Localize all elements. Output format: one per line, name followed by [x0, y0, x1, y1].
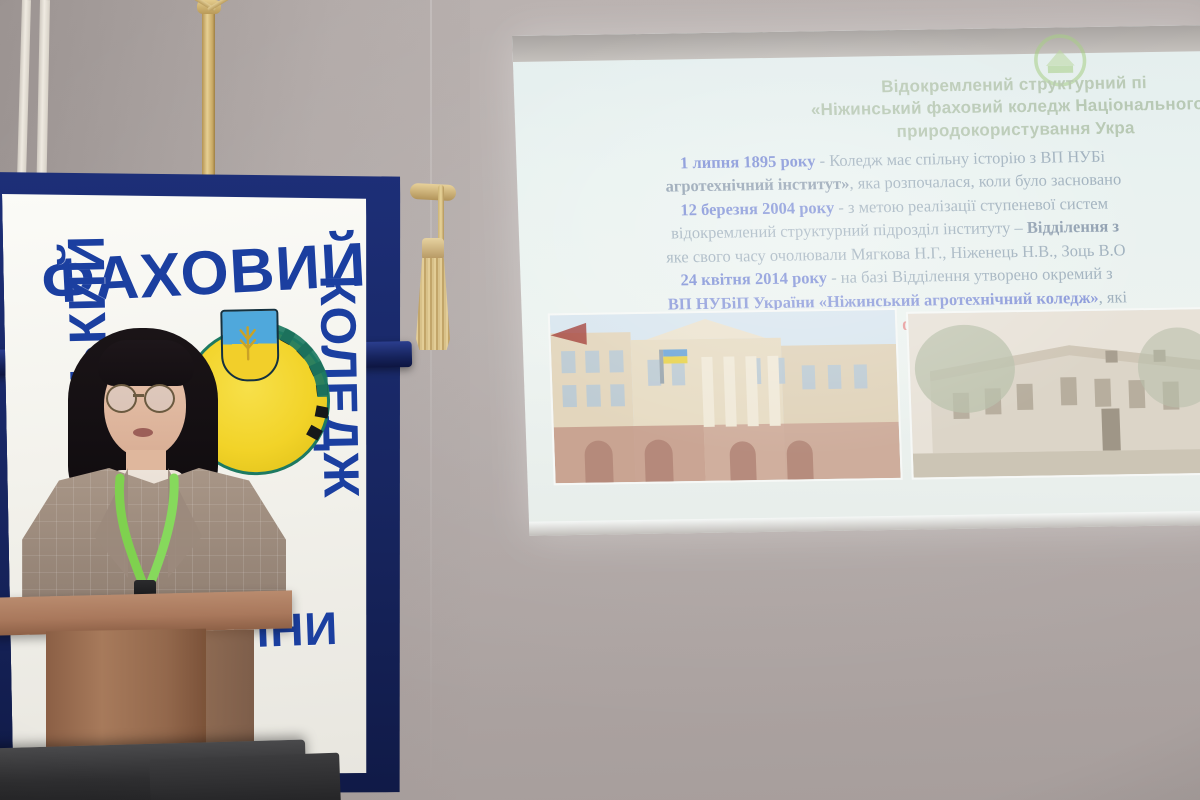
slide-text-blue: «Ніжинський агротехнічний коледж» — [818, 287, 1099, 310]
historic-illustration — [908, 309, 1200, 478]
slide-title-line3: природокористування Укра — [896, 118, 1135, 141]
dark-equipment-secondary — [149, 753, 341, 800]
slide-text-plain: , яка розпочалася, коли було засновано — [849, 170, 1121, 193]
slide-text-plain: - з метою реалізації ступеневої систем — [834, 193, 1109, 216]
lanyard-icon — [16, 318, 306, 618]
slide-title-line1: Відокремлений структурний пі — [881, 73, 1147, 96]
college-building-photo — [548, 308, 903, 485]
slide-text-date: 1 липня 1895 року — [680, 151, 816, 172]
projection-screen: Відокремлений структурний пі «Ніжинський… — [512, 25, 1200, 536]
tassel-icon — [414, 238, 452, 358]
slide-text-plain: , які — [1098, 287, 1127, 306]
presenter — [16, 318, 306, 618]
slide-text-plain: відокремлений структурний підрозділ інст… — [671, 218, 1027, 243]
slide-text-bold: Відділення з — [1026, 217, 1119, 237]
tassel-cord — [438, 185, 444, 243]
wall-seam — [430, 0, 432, 800]
slide-text-date: 12 березня 2004 року — [680, 198, 834, 219]
building-illustration — [550, 310, 901, 483]
slide-text-date: 24 квітня 2014 року — [680, 268, 827, 289]
slide-text-bold: агротехнічний інститут» — [665, 174, 850, 196]
slide-title: Відокремлений структурний пі «Ніжинський… — [664, 69, 1200, 147]
screenshot-stage: ФАХОВИЙ ЖИНСЬКИЙ КОЛЕДЖ ЇНИ — [0, 0, 1200, 800]
slide-text-plain: - на базі Відділення утворено окремий з — [827, 264, 1113, 287]
tassel-cap — [422, 238, 444, 260]
tassel-skirt — [416, 258, 450, 350]
slide-text-plain: - Коледж має спільну історію з ВП НУБі — [815, 147, 1105, 171]
banner-rod-end — [410, 183, 457, 201]
slide-title-line2: «Ніжинський фаховий коледж Національного… — [811, 94, 1200, 119]
historic-building-photo — [906, 307, 1200, 480]
